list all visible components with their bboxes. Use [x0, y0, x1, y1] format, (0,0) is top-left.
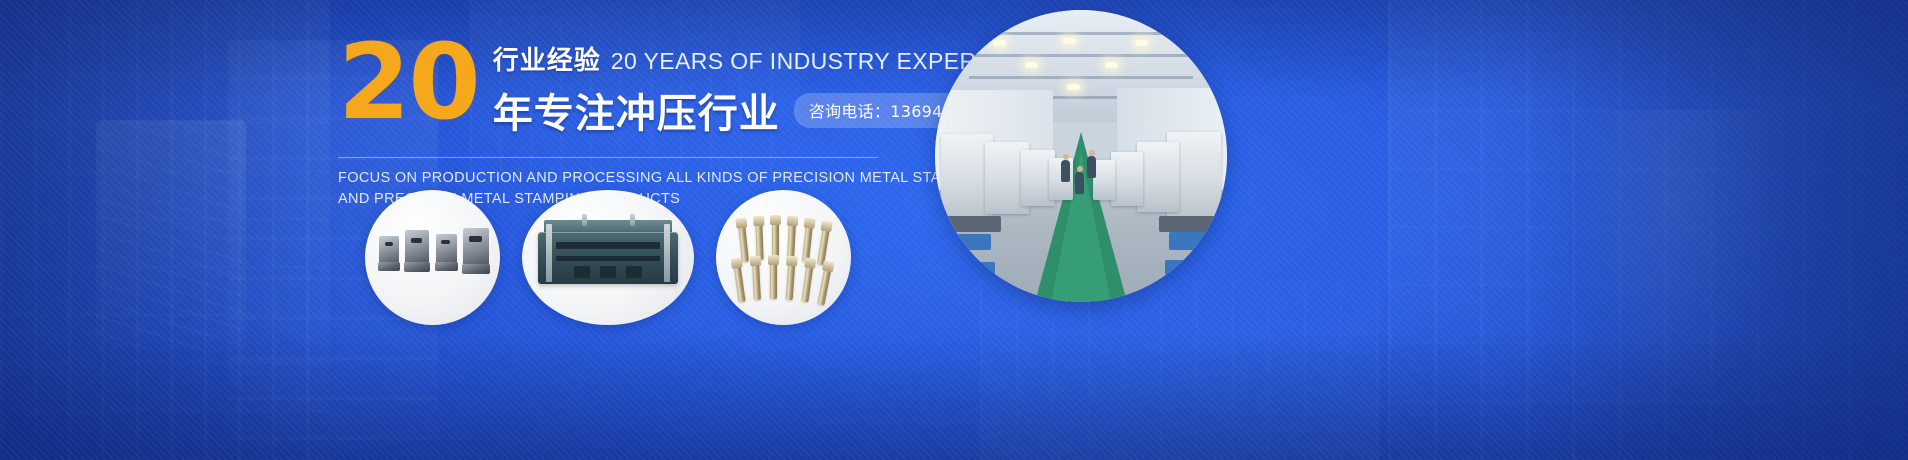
headline-cn-small: 行业经验 — [493, 40, 601, 77]
factory-scene — [935, 10, 1227, 302]
factory-photo-circle — [935, 10, 1227, 302]
description-line-1: FOCUS ON PRODUCTION AND PROCESSING ALL K… — [338, 168, 883, 189]
factory-machine — [1093, 160, 1115, 200]
factory-worker — [1061, 160, 1070, 182]
product-circle-connectors — [365, 190, 500, 325]
factory-ceiling-lamp — [1025, 62, 1038, 68]
factory-ceiling-lamp — [1067, 84, 1080, 90]
factory-blue-crate — [1169, 232, 1215, 250]
factory-ceiling-lamp — [1105, 62, 1118, 68]
headline-block: 20 行业经验 20 YEARS OF INDUSTRY EXPERIENCE … — [338, 34, 898, 210]
factory-blue-crate — [949, 234, 991, 250]
product-circle-pin-terminals — [716, 190, 851, 325]
factory-blue-crate — [957, 262, 995, 276]
headline-divider — [338, 157, 878, 158]
headline-cn-large: 年专注冲压行业 — [493, 81, 780, 139]
factory-blue-crate — [1165, 260, 1205, 275]
years-number: 20 — [338, 38, 479, 127]
factory-ceiling-lamp — [993, 40, 1006, 46]
factory-worker — [1075, 172, 1084, 194]
product-circle-stamping-mold — [522, 190, 694, 325]
factory-machine — [1111, 152, 1143, 206]
factory-machine — [1137, 142, 1179, 212]
company-hero-banner: 20 行业经验 20 YEARS OF INDUSTRY EXPERIENCE … — [0, 0, 1908, 460]
product-photo-group — [365, 190, 851, 325]
factory-worker — [1087, 156, 1096, 178]
factory-ceiling-lamp — [1135, 40, 1148, 46]
factory-ceiling-lamp — [1063, 38, 1076, 44]
headline-row: 20 行业经验 20 YEARS OF INDUSTRY EXPERIENCE … — [338, 34, 898, 139]
